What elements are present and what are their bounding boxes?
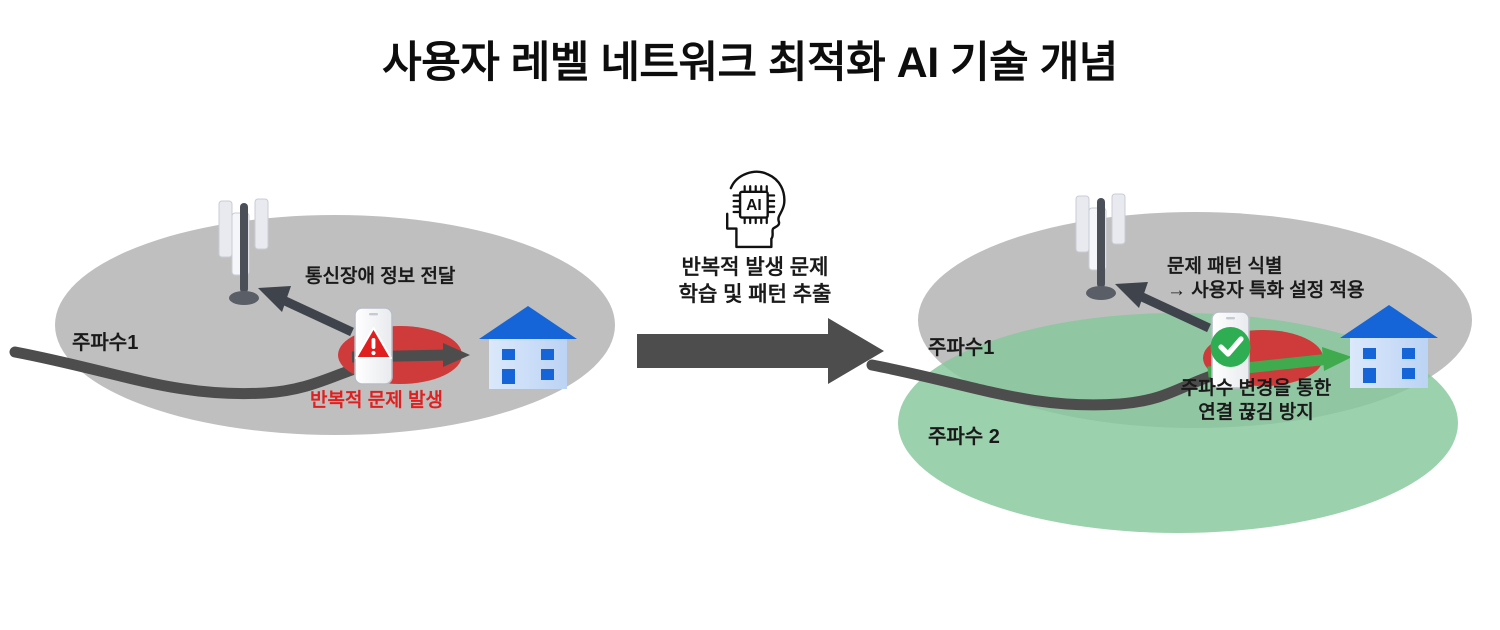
label-frequency2-right: 주파수 2 — [928, 425, 1000, 451]
label-frequency1-right: 주파수1 — [928, 336, 994, 362]
label-frequency1-left: 주파수1 — [72, 331, 138, 357]
ai-head-chip-icon: AI — [727, 172, 784, 247]
label-prevent-disconnect: 주파수 변경을 통한 연결 끊김 방지 — [1176, 377, 1336, 426]
label-pattern-identification: 문제 패턴 식별 → 사용자 특화 설정 적용 — [1167, 255, 1364, 304]
label-fault-report: 통신장애 정보 전달 — [305, 265, 455, 289]
svg-text:AI: AI — [746, 197, 762, 214]
label-ai-learning-line1: 반복적 발생 문제 — [655, 255, 855, 282]
check-circle-icon — [1211, 327, 1251, 367]
label-ai-learning-line2: 학습 및 패턴 추출 — [655, 282, 855, 309]
transition-arrow — [637, 318, 884, 384]
label-recurring-problem: 반복적 문제 발생 — [310, 389, 443, 413]
label-prevent-line1: 주파수 변경을 통한 — [1176, 377, 1336, 401]
label-pattern-line1: 문제 패턴 식별 — [1167, 255, 1364, 279]
label-pattern-line2: → 사용자 특화 설정 적용 — [1167, 279, 1364, 303]
label-ai-learning: 반복적 발생 문제 학습 및 패턴 추출 — [655, 255, 855, 309]
diagram-canvas: AI — [0, 0, 1500, 630]
right-scene — [872, 194, 1472, 533]
label-prevent-line2: 연결 끊김 방지 — [1176, 401, 1336, 425]
page-title: 사용자 레벨 네트워크 최적화 AI 기술 개념 — [0, 28, 1500, 90]
smartphone-warning-icon-left — [355, 308, 392, 384]
diagram-graphics: AI — [0, 0, 1500, 630]
